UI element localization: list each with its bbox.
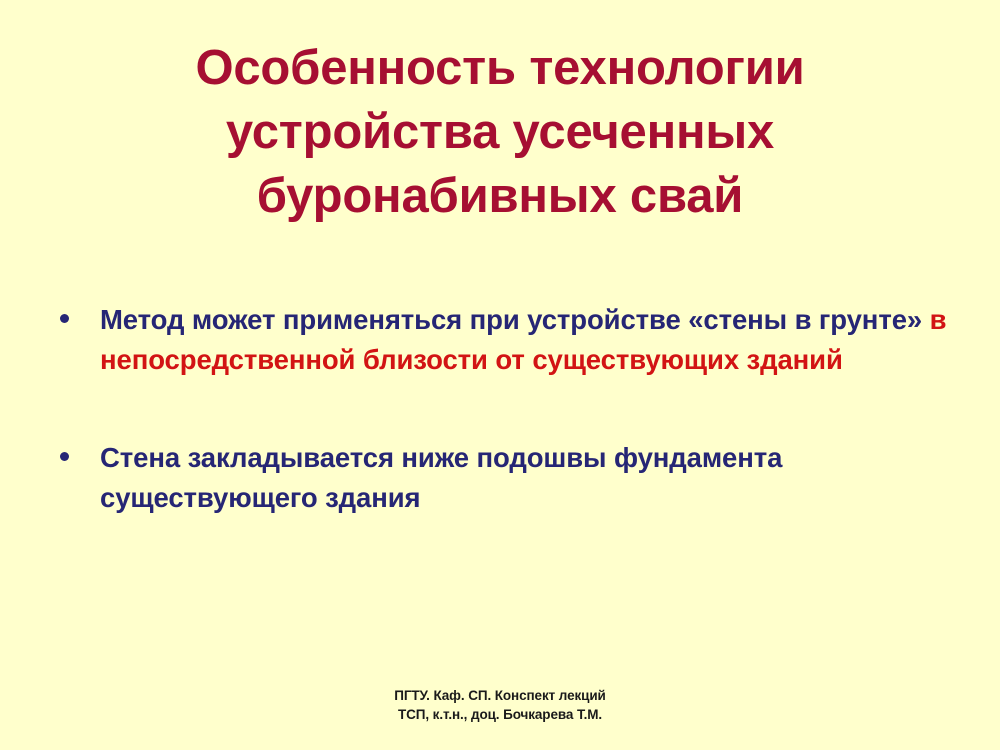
slide-title-line-3: буронабивных свай bbox=[60, 164, 940, 228]
bullet-dot-icon bbox=[60, 314, 69, 323]
slide-title: Особенность технологии устройства усечен… bbox=[60, 36, 940, 228]
slide-title-line-2: устройства усеченных bbox=[60, 100, 940, 164]
slide-footer-line-1: ПГТУ. Каф. СП. Конспект лекций bbox=[0, 686, 1000, 705]
bullet-item-1-text: Метод может применяться при устройстве «… bbox=[100, 300, 948, 380]
bullet-item-1: Метод может применяться при устройстве «… bbox=[48, 300, 948, 380]
bullet-1-segment-blue: Метод может применяться при устройстве «… bbox=[100, 304, 930, 335]
presentation-slide: Особенность технологии устройства усечен… bbox=[0, 0, 1000, 750]
bullet-2-segment-blue: Стена закладывается ниже подошвы фундаме… bbox=[100, 442, 782, 513]
bullet-item-2: Стена закладывается ниже подошвы фундаме… bbox=[48, 438, 948, 518]
slide-footer-line-2: ТСП, к.т.н., доц. Бочкарева Т.М. bbox=[0, 705, 1000, 724]
bullet-item-2-text: Стена закладывается ниже подошвы фундаме… bbox=[100, 438, 948, 518]
slide-footer: ПГТУ. Каф. СП. Конспект лекций ТСП, к.т.… bbox=[0, 686, 1000, 724]
bullet-dot-icon bbox=[60, 452, 69, 461]
slide-body: Метод может применяться при устройстве «… bbox=[48, 300, 948, 518]
slide-title-line-1: Особенность технологии bbox=[60, 36, 940, 100]
